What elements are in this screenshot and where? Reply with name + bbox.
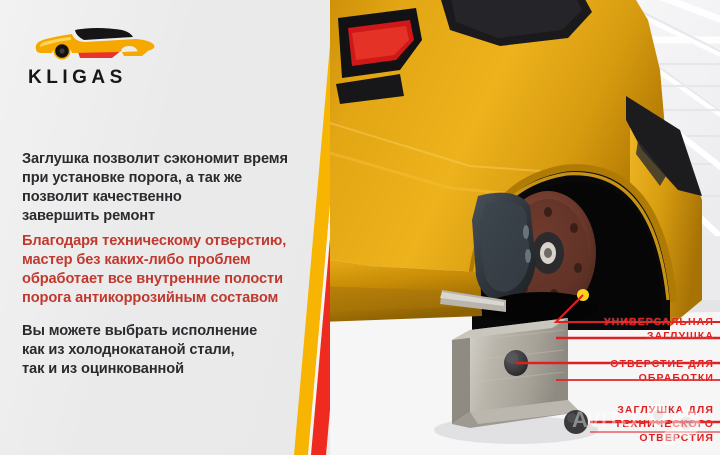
copy-paragraph-1: Заглушка позволит сэкономит время при ус… <box>22 150 310 226</box>
copy-paragraph-3: Вы можете выбрать исполнение как из холо… <box>22 322 310 379</box>
callout-label-technical-hole-plug: ЗАГЛУШКА ДЛЯ ТЕХНИЧЕСКОГО ОТВЕРСТИЯ <box>615 404 714 446</box>
callout-label-universal-plug: УНИВЕРСАЛЬНАЯ ЗАГЛУШКА <box>604 316 714 344</box>
brand-logo: KLIGAS <box>22 22 182 94</box>
info-panel: KLIGAS Заглушка позволит сэкономит время… <box>0 0 340 455</box>
advertisement-banner: KLIGAS Заглушка позволит сэкономит время… <box>0 0 720 455</box>
product-photo <box>330 0 720 455</box>
brand-wordmark: KLIGAS <box>28 67 127 89</box>
callout-label-treatment-hole: ОТВЕРСТИЕ ДЛЯ ОБРАБОТКИ <box>610 358 714 386</box>
car-photo-illustration <box>330 0 720 455</box>
copy-paragraph-2: Благодаря техническому отверстию, мастер… <box>22 232 310 308</box>
sports-car-icon <box>26 22 158 66</box>
